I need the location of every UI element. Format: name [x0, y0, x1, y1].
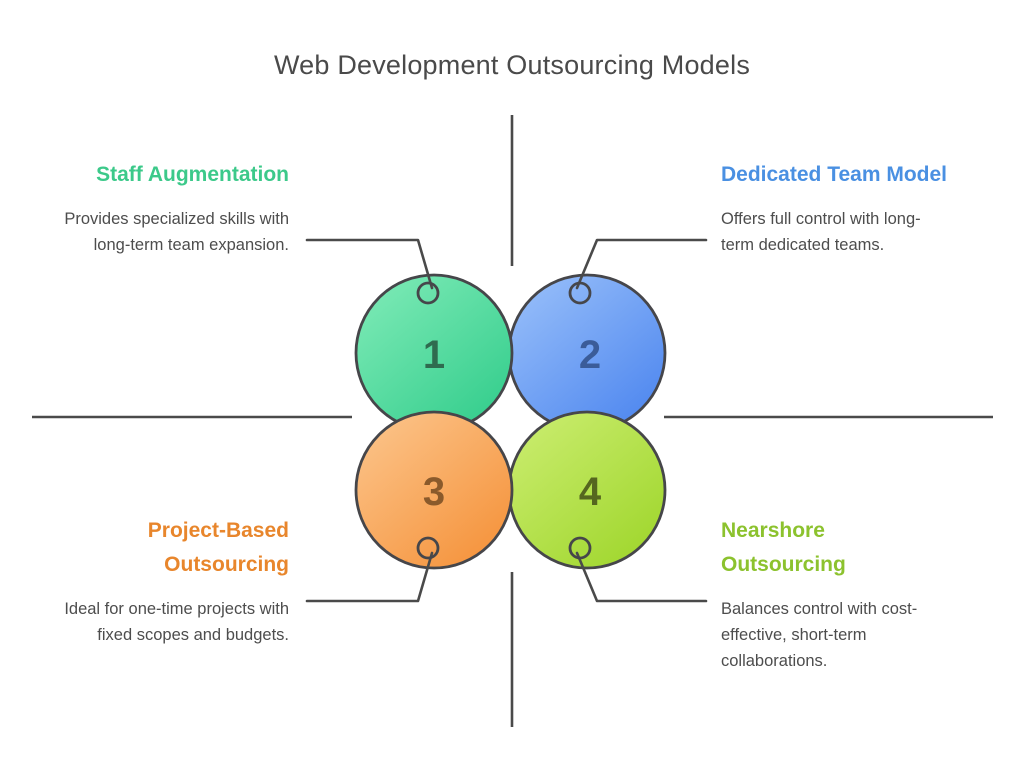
quadrant-1-description: Provides specialized skills with long-te… — [59, 206, 289, 258]
quadrant-nearshore-outsourcing[interactable]: Nearshore Outsourcing Balances control w… — [721, 514, 951, 674]
circle-cluster — [356, 275, 665, 568]
circle-4-number: 4 — [579, 470, 602, 514]
circle-2-number: 2 — [579, 333, 601, 377]
diagram-canvas: Web Development Outsourcing Models — [0, 0, 1024, 760]
quadrant-4-description: Balances control with cost-effective, sh… — [721, 596, 951, 674]
quadrant-2-description: Offers full control with long-term dedic… — [721, 206, 951, 258]
quadrant-3-description: Ideal for one-time projects with fixed s… — [59, 596, 289, 648]
quadrant-3-title: Project-Based Outsourcing — [59, 514, 289, 582]
quadrant-project-based-outsourcing[interactable]: Project-Based Outsourcing Ideal for one-… — [59, 514, 289, 648]
connector-lines — [307, 240, 706, 601]
quadrant-4-title: Nearshore Outsourcing — [721, 514, 951, 582]
quadrant-1-title: Staff Augmentation — [59, 158, 289, 192]
circle-1-number: 1 — [423, 333, 445, 377]
quadrant-dedicated-team-model[interactable]: Dedicated Team Model Offers full control… — [721, 158, 951, 258]
quadrant-2-title: Dedicated Team Model — [721, 158, 951, 192]
circle-3-number: 3 — [423, 470, 445, 514]
quadrant-staff-augmentation[interactable]: Staff Augmentation Provides specialized … — [59, 158, 289, 258]
